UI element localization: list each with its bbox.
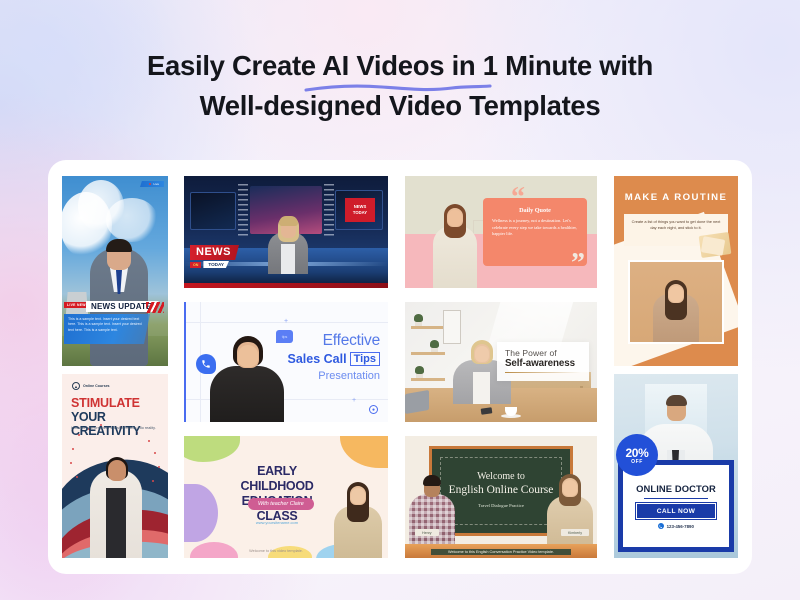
- discount-badge: 20% OFF: [616, 434, 658, 476]
- english-subtitle: Welcome to this English Conversation Pra…: [431, 549, 571, 555]
- doctor-title: ONLINE DOCTOR: [636, 483, 716, 494]
- sales-line1: Effective: [323, 332, 380, 350]
- discount-label: OFF: [631, 459, 643, 465]
- studio-light-stripes-2: [324, 184, 334, 236]
- live-badge: Live: [140, 181, 164, 187]
- hero-section: Easily Create AI Videos in 1 Minute with…: [0, 46, 800, 126]
- phone-row: 123-456-7890: [658, 523, 694, 529]
- badge-label: Online Courses: [83, 384, 110, 388]
- english-line3: Travel Dialogue Practice: [478, 503, 524, 508]
- doctor-hair: [666, 395, 687, 406]
- stimulate-title-line2: YOUR CREATIVITY: [71, 410, 168, 438]
- template-card-english-course[interactable]: Welcome to English Online Course Travel …: [405, 436, 597, 558]
- news-body-text: This is a sample text. Insert your desir…: [64, 314, 150, 344]
- presenter-top: [106, 488, 126, 558]
- studio-screen-left: [190, 192, 236, 230]
- studio-screen-right: NEWS TODAY: [335, 190, 383, 230]
- presenter-hair-top: [279, 216, 298, 226]
- news-ticker-bar: [184, 283, 388, 288]
- template-card-news-update[interactable]: Live LIVE NEWS NEWS UPDATE This is a sam…: [62, 176, 168, 366]
- chalkboard-inner: Welcome to English Online Course Travel …: [440, 457, 562, 525]
- laptop-icon: [405, 390, 429, 414]
- template-card-self-awareness[interactable]: The Power of Self-awareness: [405, 302, 597, 422]
- student-figure-left: [409, 464, 455, 550]
- presenter-blouse: [473, 372, 490, 404]
- early-title: EARLY CHILDHOOD EDUCATION CLASS: [220, 464, 334, 524]
- caption-text: Welcome to this video template.: [214, 549, 338, 553]
- presenter-shirt: [210, 366, 284, 422]
- shelf-unit: [411, 312, 445, 390]
- call-now-button[interactable]: CALL NOW: [636, 503, 717, 519]
- routine-photo: [628, 260, 724, 344]
- quote-title: Daily Quote: [492, 207, 578, 214]
- template-card-news-studio[interactable]: NEWS TODAY NEWS ON TODAY: [184, 176, 388, 288]
- quote-mark-close-icon: ”: [571, 254, 585, 274]
- template-card-stimulate-creativity[interactable]: ▲ Online Courses STIMULATE YOUR CREATIVI…: [62, 374, 168, 558]
- doctor-title-rule: [644, 498, 708, 500]
- presenter-head: [108, 460, 126, 481]
- page-title: Easily Create AI Videos in 1 Minute with…: [0, 46, 800, 126]
- online-courses-badge: ▲ Online Courses: [72, 382, 110, 390]
- screen-news-today-plate: NEWS TODAY: [345, 198, 375, 222]
- plus-marker-icon: +: [284, 318, 288, 325]
- teacher-pill: With teacher Claire: [248, 498, 314, 510]
- self-awareness-line1: The Power of: [505, 348, 581, 358]
- english-line1: Welcome to: [477, 470, 525, 483]
- phone-call-icon: [196, 354, 216, 374]
- screen-line2: TODAY: [353, 210, 367, 216]
- quote-text: Wellness is a journey, not a destination…: [492, 218, 578, 238]
- news-presenter: [268, 212, 308, 274]
- student-figure-right: [547, 464, 593, 550]
- news-bug-main: NEWS: [190, 245, 239, 260]
- nameplate-right: Kimberly: [561, 529, 589, 536]
- slash-decoration-icon: [146, 302, 164, 313]
- template-card-sales-call-tips[interactable]: + + tips Effective Sales Call Tips Prese…: [184, 302, 388, 422]
- news-bug-row: ON TODAY: [190, 261, 246, 268]
- presenter-face: [448, 210, 462, 226]
- news-bug-on: ON: [190, 262, 201, 268]
- plus-marker-2-icon: +: [352, 397, 356, 404]
- studio-light-stripes: [238, 184, 248, 236]
- template-card-daily-quote[interactable]: “ Daily Quote Wellness is a journey, not…: [405, 176, 597, 288]
- student-plaid-shirt: [409, 494, 455, 550]
- title-underline: [505, 372, 581, 373]
- template-card-online-doctor[interactable]: ONLINE DOCTOR CALL NOW 123-456-7890 20% …: [614, 374, 738, 558]
- presenter-face: [238, 345, 258, 367]
- template-grid: Live LIVE NEWS NEWS UPDATE This is a sam…: [62, 176, 738, 558]
- stimulate-subtitle: Innovate with creativity transform ideas…: [71, 426, 160, 431]
- graduation-cap-icon: ▲: [72, 382, 80, 390]
- website-url: www.yoursitename.com: [220, 520, 334, 525]
- template-card-make-a-routine[interactable]: MAKE A ROUTINE Create a list of things y…: [614, 176, 738, 366]
- routine-title: MAKE A ROUTINE: [614, 192, 738, 203]
- page-title-line2: Well-designed Video Templates: [200, 90, 601, 121]
- self-awareness-title-card: The Power of Self-awareness: [497, 342, 589, 381]
- presenter-face: [475, 346, 489, 362]
- page-title-line1-a: Easily Create AI Videos in: [147, 50, 483, 81]
- self-awareness-line2: Self-awareness: [505, 358, 581, 369]
- presenter-blouse: [281, 244, 295, 274]
- presenter-figure: [433, 198, 477, 288]
- english-line2: English Online Course: [449, 483, 554, 497]
- teacher-figure: [334, 472, 382, 558]
- discount-value: 20%: [625, 446, 648, 460]
- presenter-figure: [210, 318, 284, 422]
- sales-line3: Presentation: [318, 370, 380, 382]
- presenter-figure: [653, 272, 699, 342]
- nameplate-left: Henry: [415, 529, 439, 536]
- student-hair: [423, 475, 441, 486]
- promo-inner: ONLINE DOCTOR CALL NOW 123-456-7890: [623, 465, 729, 547]
- page-title-highlight: 1 Minute with: [483, 46, 653, 86]
- presenter-face: [669, 286, 683, 302]
- student-face-2: [563, 480, 577, 496]
- steam-plume-3: [106, 198, 158, 242]
- phone-number: 123-456-7890: [667, 524, 694, 529]
- tips-chip: tips: [276, 330, 293, 343]
- lightbulb-icon: ●: [369, 405, 378, 414]
- stimulate-title-line1: STIMULATE: [71, 396, 140, 410]
- news-bug-graphic: NEWS ON TODAY: [190, 242, 246, 268]
- sales-line2-boxed: Tips: [350, 352, 380, 366]
- presenter-figure: [90, 448, 142, 558]
- accent-edge: [184, 302, 186, 422]
- page-title-line1-b: 1 Minute with: [483, 50, 653, 81]
- sales-line2-row: Sales Call Tips: [288, 352, 381, 366]
- news-anchor-hair: [106, 239, 132, 252]
- teacher-face: [351, 488, 365, 504]
- lower-third: LIVE NEWS NEWS UPDATE This is a sample t…: [62, 302, 168, 354]
- template-card-early-childhood[interactable]: EARLY CHILDHOOD EDUCATION CLASS With tea…: [184, 436, 388, 558]
- news-bug-today: TODAY: [203, 261, 229, 268]
- sales-line2: Sales Call: [288, 352, 347, 366]
- phone-icon: [658, 523, 664, 529]
- live-dot-icon: [149, 183, 152, 186]
